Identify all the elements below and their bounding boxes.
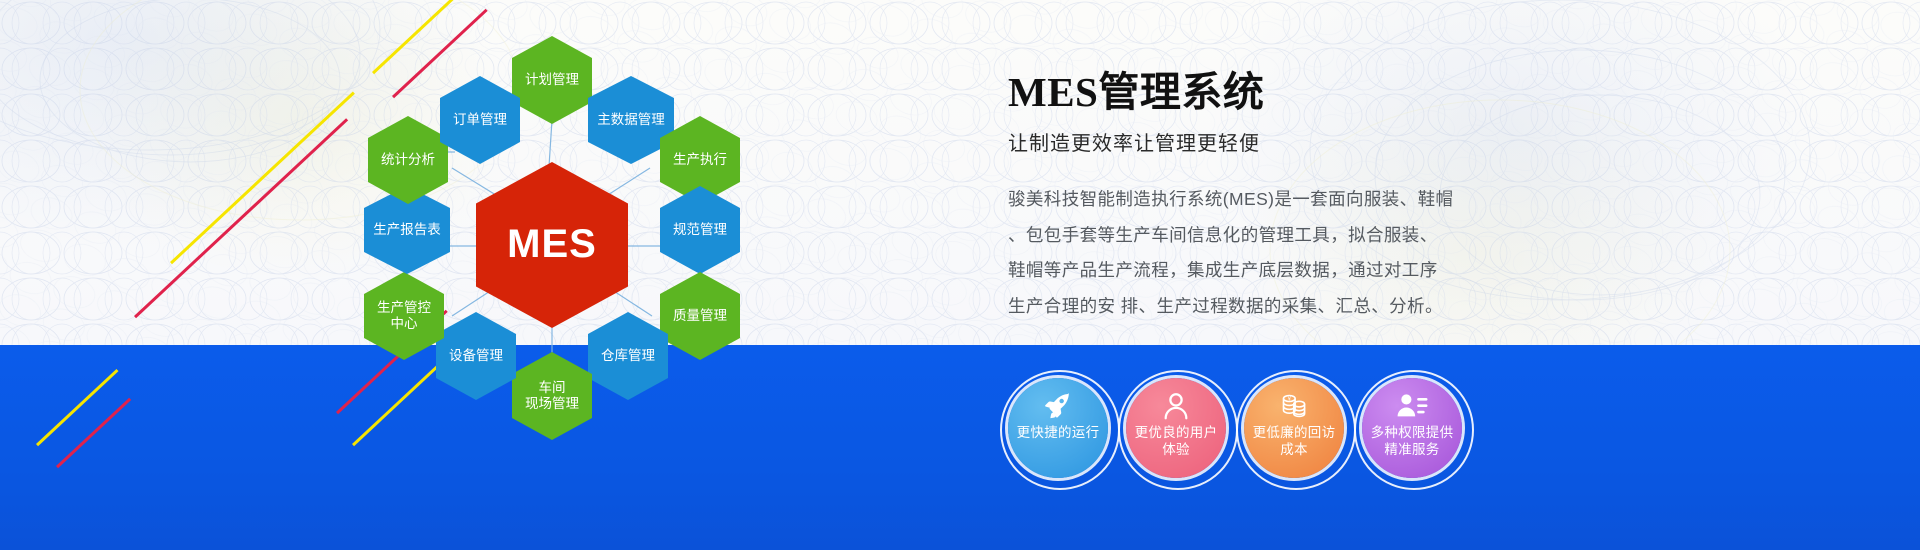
badge-ring (1354, 370, 1474, 490)
banner-root: MES 计划管理 主数据管理 生产执行 规范管理 质量管理 仓库管理 车间现场管… (0, 0, 1920, 550)
mes-hexagon-diagram: MES 计划管理 主数据管理 生产执行 规范管理 质量管理 仓库管理 车间现场管… (0, 0, 920, 550)
diagram-node-label: 生产报告表 (370, 222, 444, 238)
diagram-node-label: 主数据管理 (594, 112, 668, 128)
description-line: 、包包手套等生产车间信息化的管理工具，拟合服装、 (1008, 218, 1608, 254)
content-column: MES管理系统 让制造更效率让管理更轻便 骏美科技智能制造执行系统(MES)是一… (1008, 58, 1608, 324)
diagram-node-label: 仓库管理 (598, 348, 658, 364)
description-paragraph: 骏美科技智能制造执行系统(MES)是一套面向服装、鞋帽 、包包手套等生产车间信息… (1008, 182, 1608, 324)
diagram-node-4[interactable]: 质量管理 (660, 272, 740, 360)
description-line: 生产合理的安 排、生产过程数据的采集、汇总、分析。 (1008, 289, 1608, 325)
diagram-node-10[interactable]: 统计分析 (368, 116, 448, 204)
feature-badge-1[interactable]: 更优良的用户体验 (1126, 378, 1226, 478)
diagram-node-7[interactable]: 设备管理 (436, 312, 516, 400)
diagram-node-5[interactable]: 仓库管理 (588, 312, 668, 400)
feature-badge-0[interactable]: 更快捷的运行 (1008, 378, 1108, 478)
badge-ring (1118, 370, 1238, 490)
diagram-node-6[interactable]: 车间现场管理 (512, 352, 592, 440)
page-title: MES管理系统 (1008, 58, 1608, 118)
diagram-node-label: 生产执行 (670, 152, 730, 168)
badge-ring (1000, 370, 1120, 490)
diagram-node-label: 规范管理 (670, 222, 730, 238)
diagram-node-label: 设备管理 (446, 348, 506, 364)
diagram-node-0[interactable]: 计划管理 (512, 36, 592, 124)
feature-badge-3[interactable]: 多种权限提供精准服务 (1362, 378, 1462, 478)
diagram-node-label: 计划管理 (522, 72, 582, 88)
diagram-node-label: 车间现场管理 (522, 380, 582, 412)
diagram-node-8[interactable]: 生产管控中心 (364, 272, 444, 360)
page-subtitle: 让制造更效率让管理更轻便 (1008, 127, 1608, 156)
diagram-node-3[interactable]: 规范管理 (660, 186, 740, 274)
diagram-node-label: 质量管理 (670, 308, 730, 324)
description-line: 骏美科技智能制造执行系统(MES)是一套面向服装、鞋帽 (1008, 182, 1608, 218)
badge-ring (1236, 370, 1356, 490)
diagram-core-label: MES (504, 221, 600, 268)
diagram-node-label: 订单管理 (450, 112, 510, 128)
feature-badge-row: 更快捷的运行 更优良的用户体验 (1008, 378, 1462, 478)
diagram-core-hex[interactable]: MES (476, 162, 628, 328)
diagram-connectors (0, 0, 920, 550)
feature-badge-2[interactable]: ¥ 更低廉的回访成本 (1244, 378, 1344, 478)
diagram-node-11[interactable]: 订单管理 (440, 76, 520, 164)
description-line: 鞋帽等产品生产流程，集成生产底层数据，通过对工序 (1008, 253, 1608, 289)
diagram-node-label: 生产管控中心 (374, 300, 434, 332)
diagram-node-label: 统计分析 (378, 152, 438, 168)
